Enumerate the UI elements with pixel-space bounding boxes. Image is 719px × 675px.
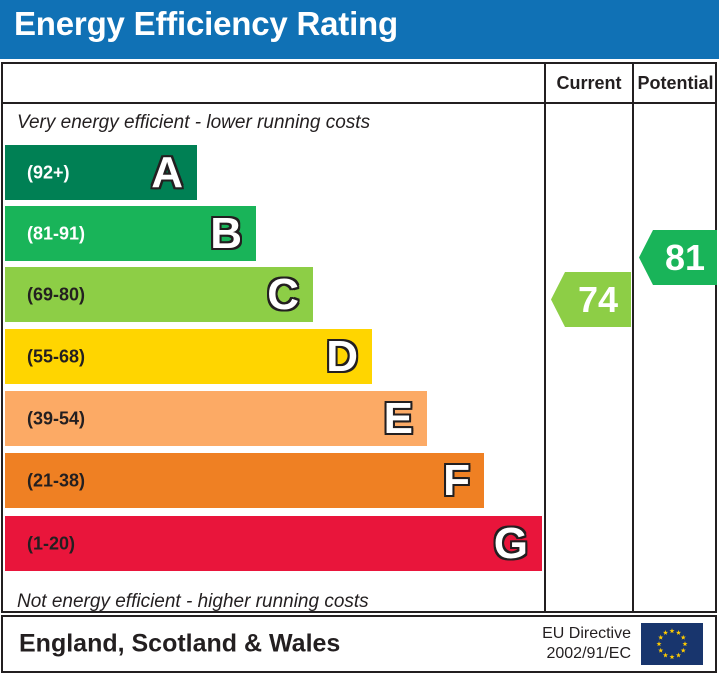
column-header-current: Current: [546, 73, 632, 94]
band-e-range: (39-54): [27, 408, 85, 429]
potential-rating-value: 81: [653, 240, 717, 276]
footer-directive-line1: EU Directive: [542, 624, 631, 644]
column-header-potential: Potential: [634, 73, 717, 94]
eu-flag-icon: [641, 623, 703, 665]
band-c-letter: C: [267, 273, 299, 317]
band-d-letter: D: [326, 335, 358, 379]
band-b-range: (81-91): [27, 223, 85, 244]
band-d: (55-68) D: [5, 329, 372, 384]
band-f: (21-38) F: [5, 453, 484, 508]
header-rule-potential: [634, 102, 717, 104]
page-title: Energy Efficiency Rating: [14, 5, 398, 43]
footer-directive-label: EU Directive 2002/91/EC: [542, 624, 631, 664]
current-rating-arrow: 74: [551, 272, 631, 327]
energy-efficiency-rating-certificate: Energy Efficiency Rating Current Potenti…: [0, 0, 719, 675]
header-bar: Energy Efficiency Rating: [0, 0, 719, 59]
band-e: (39-54) E: [5, 391, 427, 446]
band-e-letter: E: [384, 397, 413, 441]
footer-region-label: England, Scotland & Wales: [19, 630, 340, 659]
band-a: (92+) A: [5, 145, 197, 200]
column-separator-potential: [632, 64, 634, 611]
rating-chart-frame: Current Potential Very energy efficient …: [1, 62, 717, 613]
band-d-range: (55-68): [27, 346, 85, 367]
current-rating-value: 74: [565, 282, 631, 318]
band-f-range: (21-38): [27, 470, 85, 491]
header-rule-bands: [3, 102, 544, 104]
band-b-letter: B: [210, 212, 242, 256]
band-f-letter: F: [443, 459, 470, 503]
caption-inefficient: Not energy efficient - higher running co…: [17, 591, 369, 613]
band-a-letter: A: [151, 151, 183, 195]
potential-rating-arrow: 81: [639, 230, 717, 285]
band-g-letter: G: [494, 522, 528, 566]
footer-directive-line2: 2002/91/EC: [542, 644, 631, 664]
column-separator-current: [544, 64, 546, 611]
band-g-range: (1-20): [27, 533, 75, 554]
header-rule-current: [546, 102, 632, 104]
band-c: (69-80) C: [5, 267, 313, 322]
band-b: (81-91) B: [5, 206, 256, 261]
footer-bar: England, Scotland & Wales EU Directive 2…: [1, 615, 717, 673]
band-g: (1-20) G: [5, 516, 542, 571]
caption-efficient: Very energy efficient - lower running co…: [17, 112, 370, 134]
band-c-range: (69-80): [27, 284, 85, 305]
band-a-range: (92+): [27, 162, 70, 183]
